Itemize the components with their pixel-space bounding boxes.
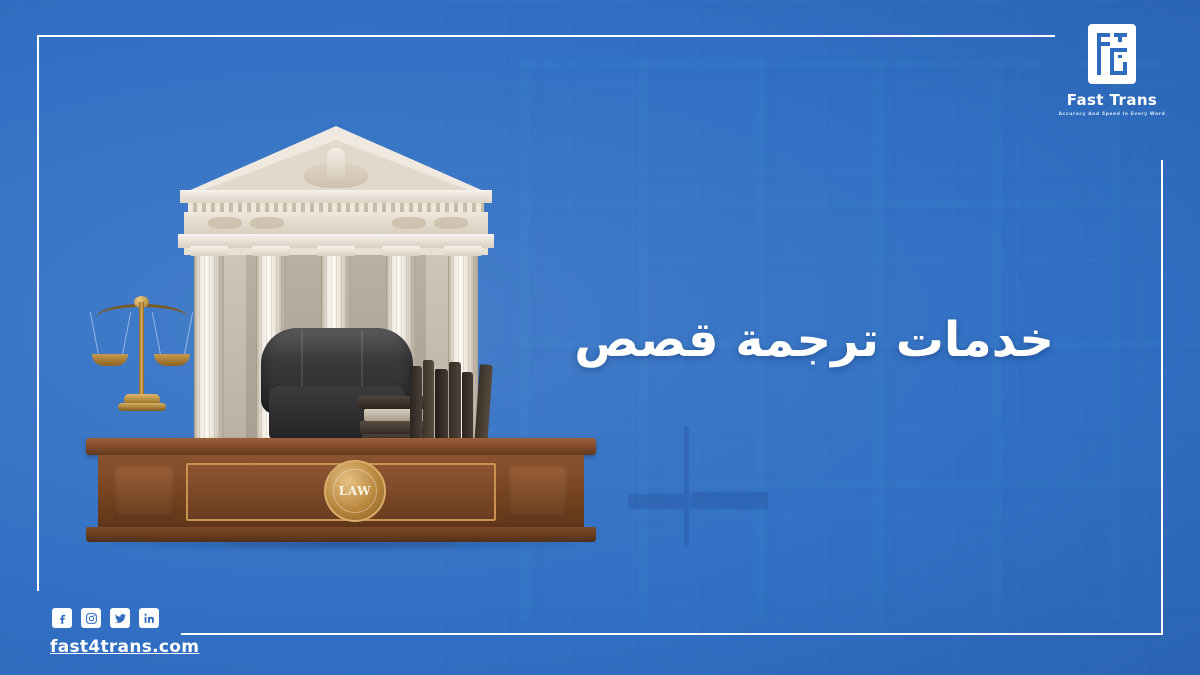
frieze-ornament <box>434 217 468 229</box>
bench-top <box>86 438 596 455</box>
frieze-ornament <box>208 217 242 229</box>
facebook-icon[interactable] <box>52 608 72 628</box>
social-links[interactable] <box>52 608 159 628</box>
frame-line-left <box>37 35 39 591</box>
frieze-ornament <box>392 217 426 229</box>
brand-logo[interactable]: Fast Trans Accuracy And Speed In Every W… <box>1048 24 1176 117</box>
column-capital <box>252 246 290 256</box>
column-capital <box>317 246 355 256</box>
book-upright <box>435 369 448 448</box>
column-capital <box>444 246 482 256</box>
twitter-icon[interactable] <box>110 608 130 628</box>
judge-bench: LAW <box>86 438 596 542</box>
book-upright <box>462 372 473 448</box>
frieze-ornament <box>250 217 284 229</box>
instagram-icon[interactable] <box>81 608 101 628</box>
book-upright <box>423 360 434 448</box>
page-title: خدمات ترجمة قصص <box>574 310 1054 370</box>
justice-statue <box>327 148 345 178</box>
frame-line-top <box>37 35 1055 37</box>
frame-line-bottom <box>181 633 1163 635</box>
brand-name: Fast Trans <box>1048 92 1176 109</box>
law-seal-medallion: LAW <box>324 460 386 522</box>
ft-monogram-icon <box>1088 24 1136 84</box>
frame-line-right <box>1161 160 1163 635</box>
scales-post <box>139 302 144 398</box>
bench-side-panel <box>114 465 174 517</box>
bench-side-panel <box>508 465 568 517</box>
scales-base <box>118 403 166 411</box>
scales-pan-right <box>154 354 190 366</box>
scales-pan-left <box>92 354 128 366</box>
cornice <box>180 190 492 203</box>
brand-tagline: Accuracy And Speed In Every Word <box>1048 112 1176 117</box>
linkedin-icon[interactable] <box>139 608 159 628</box>
book-upright <box>449 362 461 448</box>
background-street-sign <box>628 486 768 520</box>
column-fluting <box>194 255 224 455</box>
book-upright <box>474 364 493 449</box>
scales-of-justice-icon <box>92 288 192 413</box>
courthouse-illustration: LAW <box>86 118 596 538</box>
book-upright <box>410 366 422 448</box>
website-url[interactable]: fast4trans.com <box>50 637 199 657</box>
column-capital <box>190 246 228 256</box>
law-seal-label: LAW <box>339 484 371 498</box>
bench-base <box>86 527 596 542</box>
banner-canvas: Fast Trans Accuracy And Speed In Every W… <box>0 0 1200 675</box>
law-books-stack <box>404 338 540 448</box>
dentil-molding <box>188 203 484 212</box>
column-capital <box>382 246 420 256</box>
law-seal-inner-ring: LAW <box>333 469 377 513</box>
